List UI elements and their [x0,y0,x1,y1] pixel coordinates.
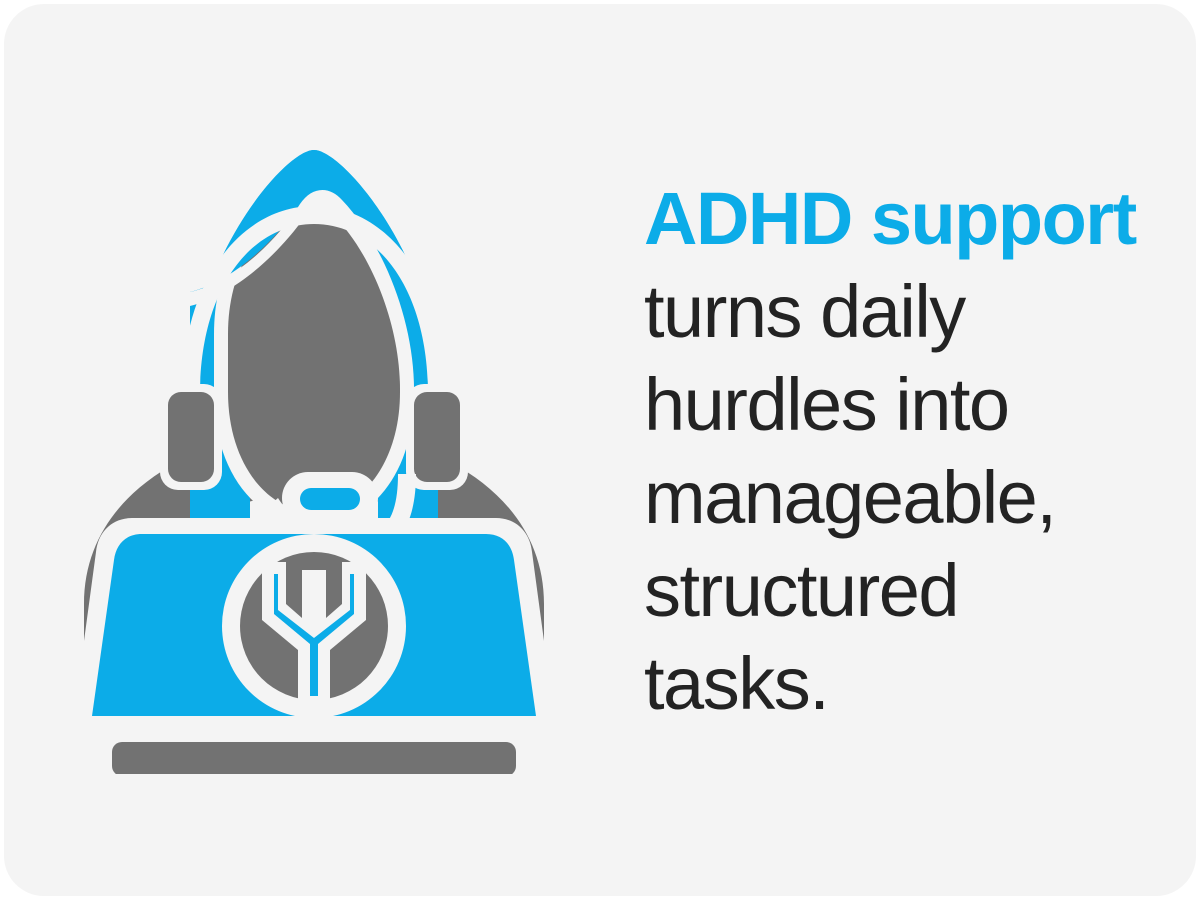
body-line-3: manageable, [644,451,1144,544]
microphone-tip [300,488,360,510]
message-text-block: ADHD support turns daily hurdles into ma… [644,172,1144,730]
laptop-base [112,742,516,774]
body-line-5: tasks. [644,637,1144,730]
headline-adhd-support: ADHD support [644,172,1144,265]
body-line-1: turns daily [644,265,1144,358]
support-agent-illustration [64,134,564,774]
earpiece-left [168,392,214,482]
earpiece-right [414,392,460,482]
body-line-4: structured [644,544,1144,637]
promo-card: ADHD support turns daily hurdles into ma… [4,4,1196,896]
body-line-2: hurdles into [644,358,1144,451]
page-canvas: ADHD support turns daily hurdles into ma… [0,0,1200,900]
